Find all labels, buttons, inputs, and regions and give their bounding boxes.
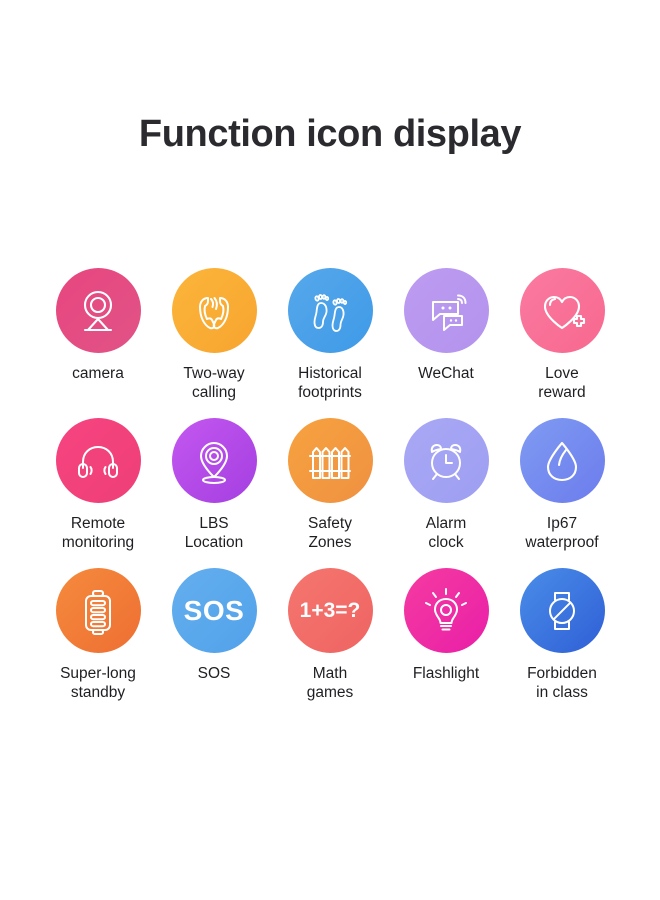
grid-item-label: Alarm clock [426, 515, 466, 553]
alarm-clock-badge[interactable] [404, 418, 489, 503]
sos-badge[interactable]: SOS [172, 568, 257, 653]
grid-item-label: Love reward [538, 365, 585, 403]
heart-plus-icon [536, 285, 588, 337]
webcam-icon [72, 285, 124, 337]
grid-item-label: LBS Location [185, 515, 244, 553]
speech-bubbles-icon [420, 285, 472, 337]
icon-grid-row: camera Two-way calling [40, 268, 620, 418]
grid-item-lbs-location[interactable]: LBS Location [156, 418, 272, 568]
headphones-icon [72, 435, 124, 487]
math-equation-icon: 1+3=? [300, 600, 361, 621]
grid-item-wechat[interactable]: WeChat [388, 268, 504, 418]
grid-item-sos[interactable]: SOS SOS [156, 568, 272, 718]
grid-item-forbidden-in-class[interactable]: Forbidden in class [504, 568, 620, 718]
no-watch-icon [536, 585, 588, 637]
map-pin-icon [188, 435, 240, 487]
lbs-location-badge[interactable] [172, 418, 257, 503]
sos-text-icon: SOS [184, 597, 245, 625]
page-title: Function icon display [0, 113, 660, 156]
camera-badge[interactable] [56, 268, 141, 353]
grid-item-alarm-clock[interactable]: Alarm clock [388, 418, 504, 568]
grid-item-label: Super-long standby [60, 665, 136, 703]
grid-item-super-long-standby[interactable]: Super-long standby [40, 568, 156, 718]
icon-grid-row: Remote monitoring LBS Location [40, 418, 620, 568]
water-drop-icon [536, 435, 588, 487]
grid-item-camera[interactable]: camera [40, 268, 156, 418]
alarm-clock-icon [420, 435, 472, 487]
grid-item-flashlight[interactable]: Flashlight [388, 568, 504, 718]
icon-grid-row: Super-long standby SOS SOS 1+3=? Math ga… [40, 568, 620, 718]
grid-item-love-reward[interactable]: Love reward [504, 268, 620, 418]
remote-monitoring-badge[interactable] [56, 418, 141, 503]
icon-grid: camera Two-way calling [40, 268, 620, 718]
two-handsets-icon [188, 285, 240, 337]
grid-item-label: Math games [307, 665, 354, 703]
grid-item-label: camera [72, 365, 124, 384]
fence-icon [304, 435, 356, 487]
light-bulb-icon [420, 585, 472, 637]
grid-item-label: Flashlight [413, 665, 479, 684]
forbidden-in-class-badge[interactable] [520, 568, 605, 653]
footprints-icon [304, 285, 356, 337]
grid-item-remote-monitoring[interactable]: Remote monitoring [40, 418, 156, 568]
love-reward-badge[interactable] [520, 268, 605, 353]
grid-item-label: Ip67 waterproof [525, 515, 598, 553]
grid-item-label: Historical footprints [298, 365, 362, 403]
grid-item-two-way-calling[interactable]: Two-way calling [156, 268, 272, 418]
grid-item-label: Safety Zones [308, 515, 352, 553]
math-games-badge[interactable]: 1+3=? [288, 568, 373, 653]
grid-item-label: SOS [198, 665, 231, 684]
ip67-waterproof-badge[interactable] [520, 418, 605, 503]
wechat-badge[interactable] [404, 268, 489, 353]
two-way-calling-badge[interactable] [172, 268, 257, 353]
grid-item-ip67-waterproof[interactable]: Ip67 waterproof [504, 418, 620, 568]
grid-item-label: Forbidden in class [527, 665, 597, 703]
grid-item-math-games[interactable]: 1+3=? Math games [272, 568, 388, 718]
function-icon-display-page: Function icon display camera [0, 0, 660, 900]
grid-item-historical-footprints[interactable]: Historical footprints [272, 268, 388, 418]
grid-item-safety-zones[interactable]: Safety Zones [272, 418, 388, 568]
grid-item-label: Remote monitoring [62, 515, 134, 553]
safety-zones-badge[interactable] [288, 418, 373, 503]
historical-footprints-badge[interactable] [288, 268, 373, 353]
battery-icon [72, 585, 124, 637]
grid-item-label: WeChat [418, 365, 474, 384]
grid-item-label: Two-way calling [183, 365, 244, 403]
super-long-standby-badge[interactable] [56, 568, 141, 653]
flashlight-badge[interactable] [404, 568, 489, 653]
